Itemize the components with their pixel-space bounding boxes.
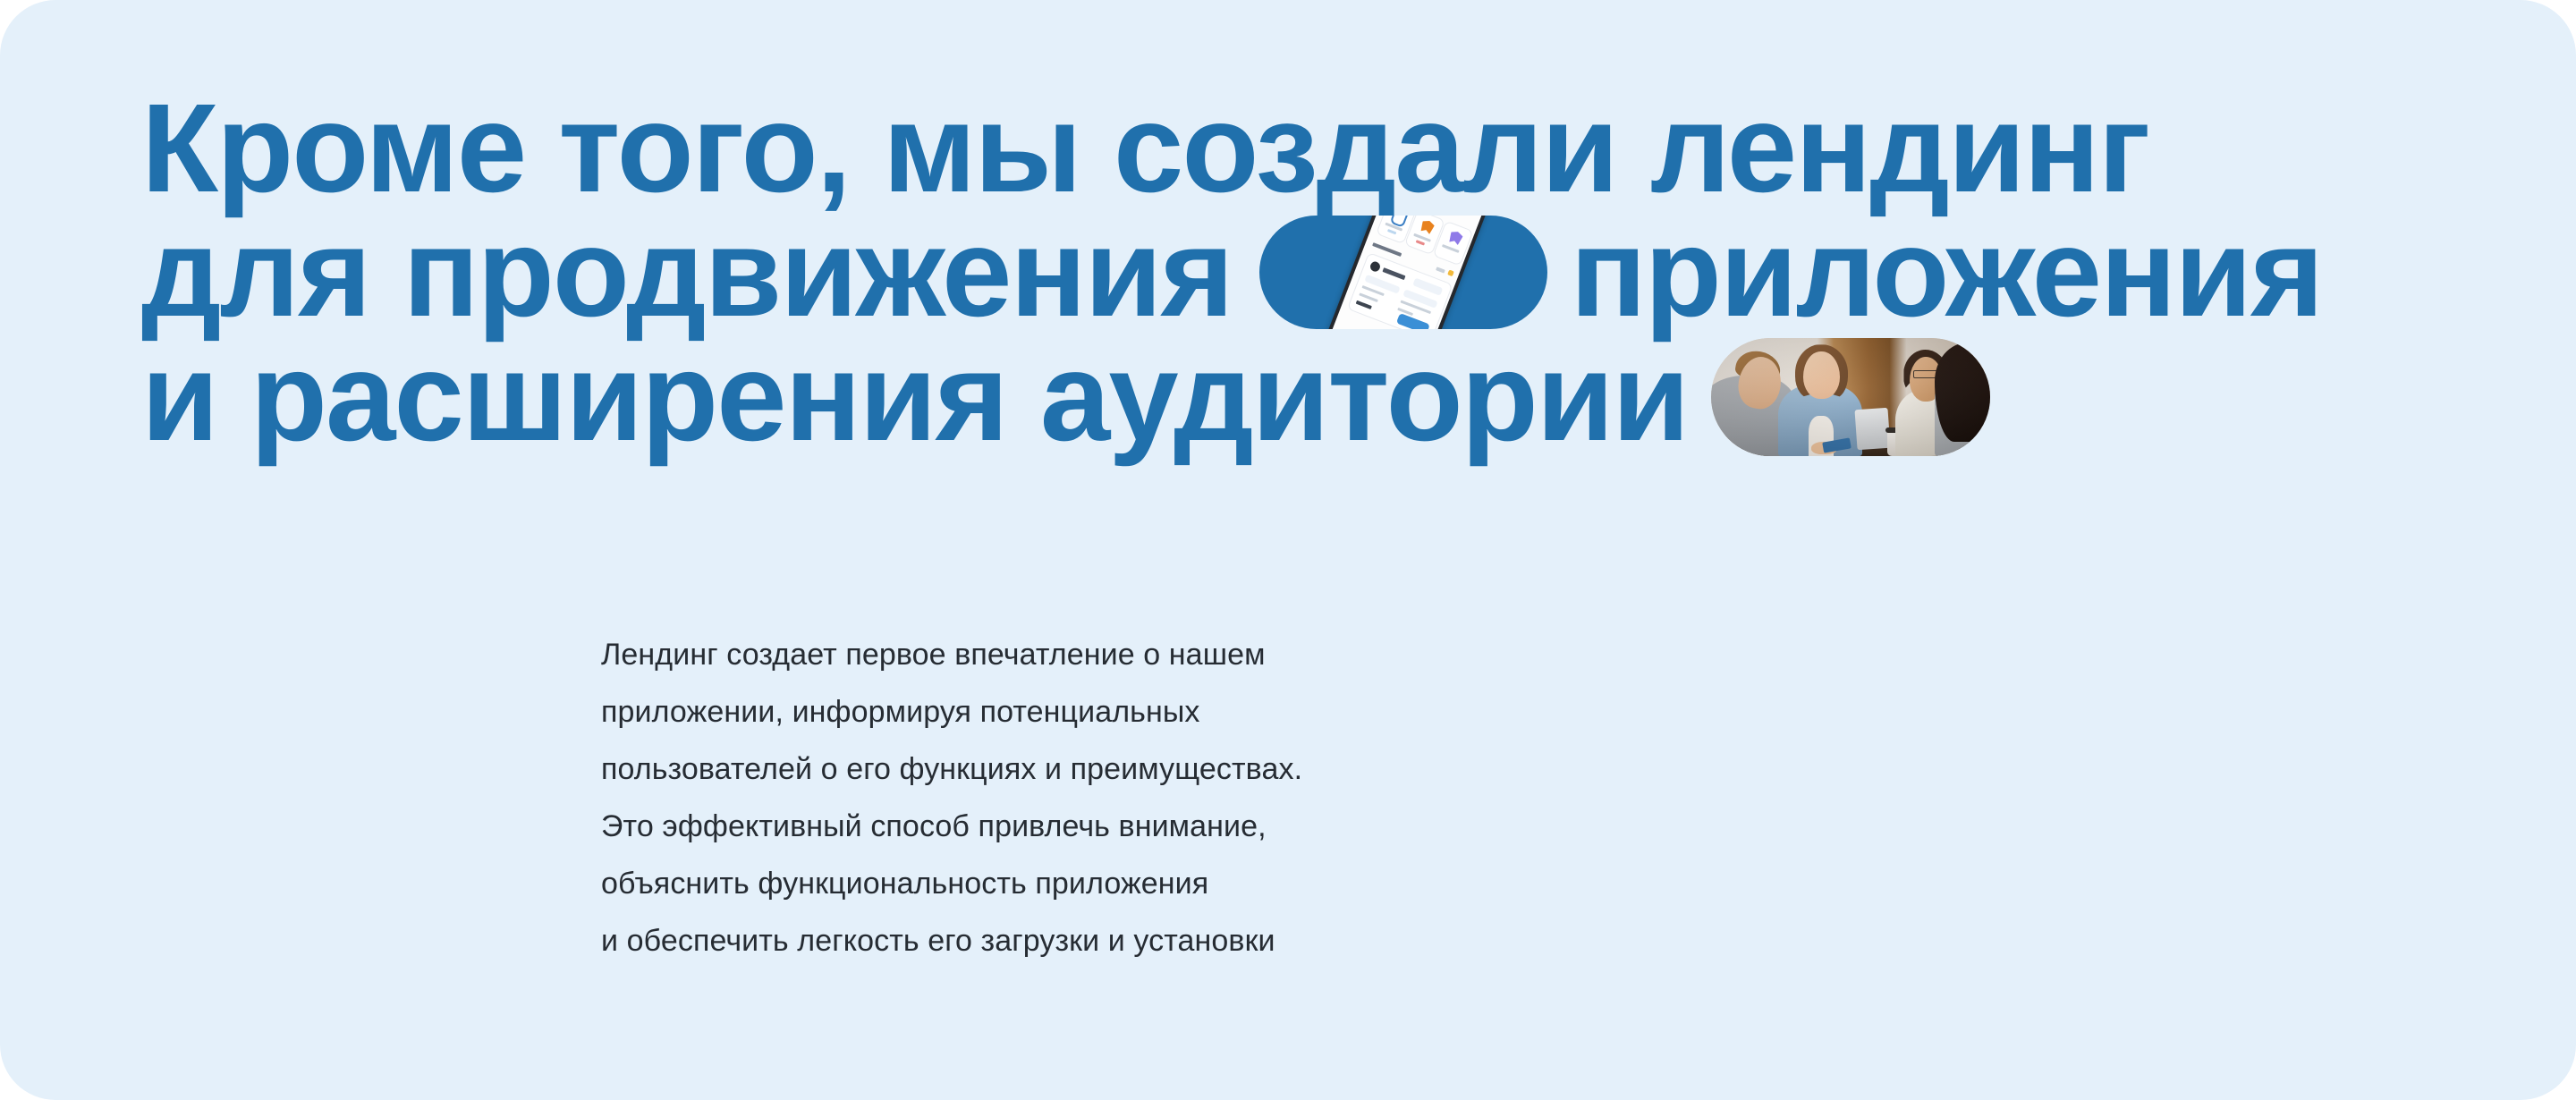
headline-line-2: для продвижения <box>141 210 2485 334</box>
description-line-4: Это эффективный способ привлечь внимание… <box>601 798 1853 855</box>
phone-bot-label-3 <box>1359 292 1378 302</box>
phone-wallet-1-tag <box>1387 228 1396 233</box>
description-line-1: Лендинг создает первое впечатление о наш… <box>601 626 1853 683</box>
headline-line-3-text: и расширения аудитории <box>141 334 1688 459</box>
headline-line-3: и расширения аудитории <box>141 334 2485 459</box>
description-paragraph: Лендинг создает первое впечатление о наш… <box>601 626 1853 969</box>
phone-wallet-3-name <box>1442 243 1460 252</box>
description-line-5: объяснить функциональность приложения <box>601 855 1853 912</box>
page-title: Кроме того, мы создали лендинг для продв… <box>141 86 2485 459</box>
avatar <box>1368 259 1381 272</box>
phone-bot-status-chip <box>1412 277 1443 295</box>
phone-device <box>1314 216 1493 329</box>
phone-bots-filter-icon <box>1436 267 1445 273</box>
phone-bots-star-icon <box>1447 269 1454 276</box>
headline-line-2-after: приложения <box>1571 210 2323 334</box>
phone-wallet-2-tag <box>1415 240 1424 245</box>
team-photo-pill <box>1711 338 1990 456</box>
slide-card: Кроме того, мы создали лендинг для продв… <box>0 0 2576 1100</box>
phone-section-bots-label <box>1372 242 1402 257</box>
photo-scene <box>1711 338 1990 456</box>
headline-line-1: Кроме того, мы создали лендинг <box>141 86 2485 210</box>
headline-line-1-text: Кроме того, мы создали лендинг <box>141 86 2148 210</box>
phone-bot-primary-button[interactable] <box>1396 312 1430 329</box>
headline-line-2-before: для продвижения <box>141 210 1233 334</box>
phone-bot-card <box>1347 251 1453 329</box>
phone-bot-name <box>1382 267 1405 280</box>
description-line-6: и обеспечить легкость его загрузки и уст… <box>601 912 1853 969</box>
metamask-fox-icon <box>1419 218 1435 234</box>
photo-vignette <box>1711 338 1990 456</box>
description-line-3: пользователей о его функциях и преимущес… <box>601 740 1853 798</box>
description-line-2: приложении, информируя потенциальных <box>601 683 1853 740</box>
wallet-3-icon <box>1447 229 1463 245</box>
phone-bot-value-1 <box>1355 300 1371 309</box>
phone-mockup-pill <box>1259 216 1547 329</box>
